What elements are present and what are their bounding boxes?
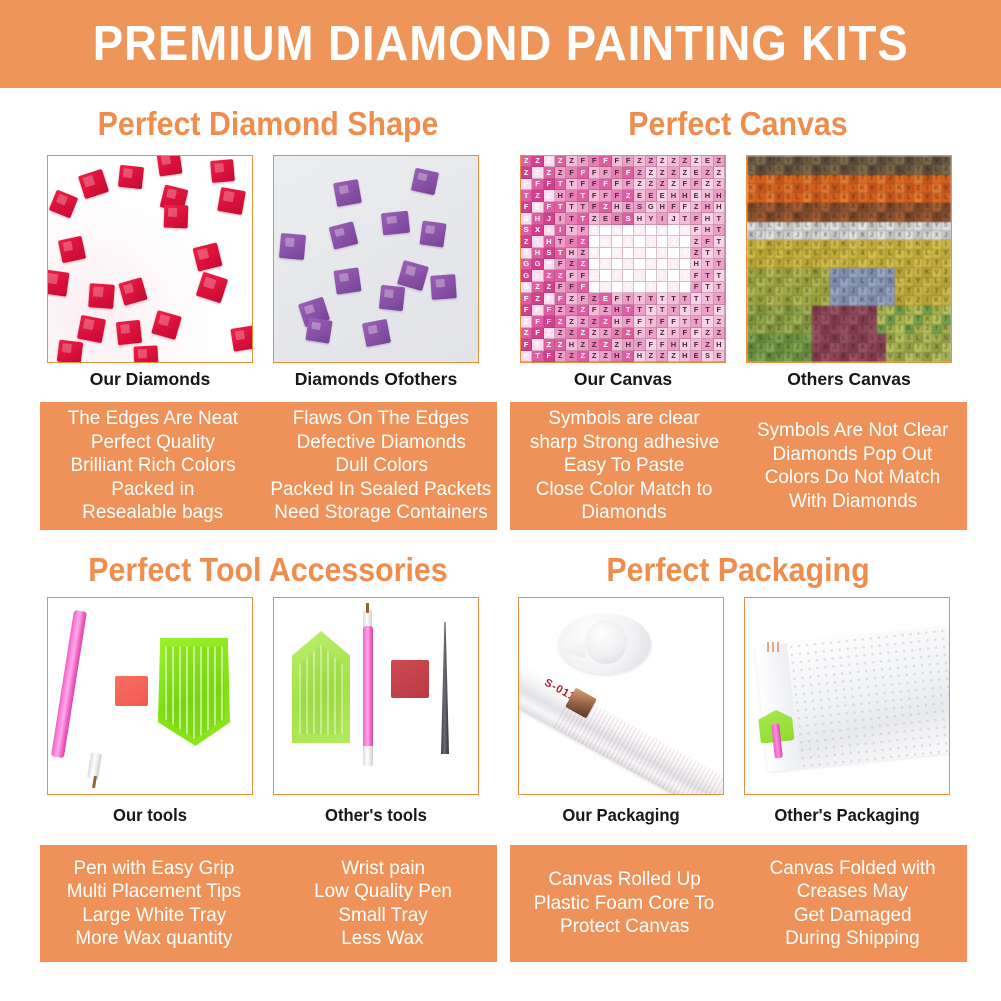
canvas-symbol-cell: 4: [923, 334, 932, 343]
canvas-symbol-cell: L: [756, 193, 765, 202]
canvas-symbol-cell: V: [784, 156, 793, 165]
canvas-symbol-cell: I: [868, 353, 877, 362]
canvas-symbol-cell: 2: [895, 353, 904, 362]
canvas-symbol-cell: H: [566, 339, 577, 350]
canvas-symbol-cell: J: [803, 259, 812, 268]
canvas-symbol-cell: Y: [784, 222, 793, 231]
canvas-symbol-cell: 7: [868, 203, 877, 212]
panel-line: Packed in: [111, 478, 194, 502]
caption-our-canvas: Our Canvas: [520, 369, 726, 390]
canvas-symbol-cell: S: [544, 248, 555, 259]
canvas-symbol-cell: Y: [905, 250, 914, 259]
canvas-symbol-cell: F: [589, 305, 600, 316]
panel-line: Resealable bags: [82, 501, 223, 525]
canvas-symbol-cell: 2: [858, 353, 867, 362]
canvas-symbol-cell: S: [849, 278, 858, 287]
canvas-symbol-cell: K: [914, 353, 923, 362]
canvas-symbol-cell: V: [886, 240, 895, 249]
canvas-symbol-cell: Z: [714, 167, 725, 178]
canvas-symbol-cell: 7: [756, 203, 765, 212]
canvas-symbol-cell: I: [544, 225, 555, 236]
canvas-symbol-cell: 2: [877, 184, 886, 193]
canvas-symbol-cell: E: [612, 225, 623, 236]
canvas-symbol-cell: 2: [803, 296, 812, 305]
canvas-symbol-cell: I: [821, 325, 830, 334]
canvas-symbol-cell: T: [668, 270, 679, 281]
canvas-symbol-cell: T: [714, 236, 725, 247]
canvas-symbol-cell: Y: [849, 193, 858, 202]
canvas-symbol-cell: K: [812, 156, 821, 165]
canvas-symbol-cell: Z: [646, 179, 657, 190]
canvas-symbol-cell: Z: [623, 328, 634, 339]
canvas-symbol-cell: T: [932, 259, 941, 268]
canvas-symbol-cell: T: [877, 203, 886, 212]
canvas-symbol-cell: 2: [766, 184, 775, 193]
canvas-symbol-cell: I: [886, 296, 895, 305]
canvas-symbol-cell: S: [830, 222, 839, 231]
canvas-symbol-cell: 4: [932, 250, 941, 259]
canvas-symbol-cell: I: [821, 212, 830, 221]
canvas-symbol-cell: L: [942, 193, 951, 202]
canvas-symbol-cell: 2: [895, 240, 904, 249]
canvas-symbol-cell: T: [668, 282, 679, 293]
canvas-symbol-cell: H: [634, 213, 645, 224]
canvas-symbol-cell: T: [634, 270, 645, 281]
panel-line: Low Quality Pen: [314, 880, 452, 904]
canvas-symbol-cell: 2: [756, 156, 765, 165]
canvas-symbol-cell: T: [702, 259, 713, 270]
canvas-symbol-cell: H: [702, 202, 713, 213]
canvas-symbol-cell: 2: [803, 184, 812, 193]
canvas-symbol-cell: H: [702, 213, 713, 224]
canvas-symbol-cell: T: [680, 282, 691, 293]
canvas-symbol-cell: Y: [821, 222, 830, 231]
photo-card-others-canvas: V2IKV2IKV2IKV2IKV2IKV2L4YSL4YSL4YSL4YSL4…: [746, 155, 952, 363]
canvas-symbol-cell: F: [578, 225, 589, 236]
canvas-symbol-cell: 7: [942, 315, 951, 324]
canvas-symbol-cell: Z: [600, 316, 611, 327]
canvas-symbol-cell: X: [849, 315, 858, 324]
canvas-symbol-cell: J: [544, 213, 555, 224]
canvas-symbol-cell: Z: [623, 351, 634, 362]
canvas-symbol-cell: T: [905, 287, 914, 296]
canvas-symbol-cell: K: [877, 353, 886, 362]
canvas-symbol-cell: 4: [840, 193, 849, 202]
canvas-symbol-cell: X: [840, 287, 849, 296]
canvas-symbol-cell: V: [923, 240, 932, 249]
canvas-symbol-cell: Z: [680, 167, 691, 178]
canvas-symbol-cell: F: [612, 259, 623, 270]
canvas-symbol-cell: H: [714, 190, 725, 201]
canvas-symbol-cell: K: [830, 212, 839, 221]
canvas-symbol-cell: T: [634, 293, 645, 304]
page-header: PREMIUM DIAMOND PAINTING KITS: [0, 0, 1001, 88]
canvas-symbol-cell: F: [680, 202, 691, 213]
section-heading-canvas: Perfect Canvas: [526, 105, 949, 143]
canvas-symbol-cell: J: [657, 236, 668, 247]
section-heading-diamond-shape: Perfect Diamond Shape: [56, 105, 479, 143]
canvas-symbol-cell: F: [521, 293, 532, 304]
canvas-symbol-cell: Y: [747, 334, 756, 343]
canvas-symbol-cell: 4: [923, 222, 932, 231]
canvas-symbol-cell: K: [932, 296, 941, 305]
panel-line: With Diamonds: [789, 490, 917, 514]
canvas-symbol-cell: I: [877, 268, 886, 277]
canvas-symbol-cell: V: [756, 296, 765, 305]
canvas-symbol-cell: J: [877, 259, 886, 268]
canvas-symbol-cell: 4: [766, 193, 775, 202]
canvas-symbol-cell: 4: [877, 306, 886, 315]
canvas-symbol-cell: K: [830, 325, 839, 334]
canvas-symbol-cell: G: [521, 270, 532, 281]
canvas-symbol-cell: L: [793, 193, 802, 202]
canvas-symbol-cell: 7: [905, 203, 914, 212]
panel-line: sharp Strong adhesive: [530, 431, 719, 455]
canvas-symbol-cell: X: [923, 315, 932, 324]
canvas-symbol-cell: 2: [932, 240, 941, 249]
canvas-symbol-cell: G: [521, 259, 532, 270]
canvas-symbol-cell: S: [775, 278, 784, 287]
canvas-symbol-cell: K: [756, 325, 765, 334]
canvas-symbol-cell: V: [886, 353, 895, 362]
canvas-symbol-cell: Y: [766, 278, 775, 287]
canvas-symbol-cell: Y: [840, 278, 849, 287]
canvas-symbol-cell: T: [868, 175, 877, 184]
canvas-symbol-cell: F: [657, 316, 668, 327]
canvas-symbol-cell: J: [756, 231, 765, 240]
canvas-symbol-cell: Z: [566, 259, 577, 270]
canvas-symbol-cell: H: [657, 202, 668, 213]
canvas-symbol-cell: F: [612, 282, 623, 293]
canvas-symbol-cell: F: [532, 328, 543, 339]
canvas-symbol-cell: T: [646, 282, 657, 293]
canvas-symbol-cell: Z: [702, 167, 713, 178]
canvas-symbol-cell: T: [895, 259, 904, 268]
canvas-symbol-cell: I: [803, 156, 812, 165]
canvas-symbol-cell: L: [895, 278, 904, 287]
canvas-symbol-cell: 4: [868, 278, 877, 287]
canvas-symbol-cell: V: [793, 296, 802, 305]
canvas-symbol-cell: 4: [793, 165, 802, 174]
canvas-symbol-cell: J: [923, 175, 932, 184]
canvas-symbol-cell: T: [942, 287, 951, 296]
canvas-symbol-cell: J: [942, 231, 951, 240]
canvas-symbol-cell: K: [793, 212, 802, 221]
canvas-symbol-cell: E: [657, 190, 668, 201]
canvas-symbol-cell: T: [623, 305, 634, 316]
canvas-symbol-cell: L: [858, 165, 867, 174]
canvas-symbol-cell: T: [668, 293, 679, 304]
canvas-symbol-cell: I: [766, 268, 775, 277]
canvas-symbol-cell: E: [600, 248, 611, 259]
canvas-symbol-cell: T: [680, 293, 691, 304]
canvas-symbol-cell: X: [766, 175, 775, 184]
canvas-symbol-cell: K: [756, 212, 765, 221]
canvas-symbol-cell: K: [775, 156, 784, 165]
canvas-symbol-cell: V: [905, 184, 914, 193]
canvas-symbol-cell: 2: [923, 212, 932, 221]
canvas-symbol-cell: T: [886, 343, 895, 352]
canvas-symbol-cell: J: [775, 287, 784, 296]
canvas-symbol-cell: Y: [877, 165, 886, 174]
canvas-symbol-cell: Y: [821, 334, 830, 343]
canvas-symbol-cell: L: [942, 306, 951, 315]
canvas-symbol-cell: X: [821, 343, 830, 352]
canvas-symbol-cell: H: [532, 213, 543, 224]
canvas-symbol-cell: T: [521, 190, 532, 201]
canvas-symbol-cell: T: [578, 202, 589, 213]
canvas-symbol-cell: X: [803, 287, 812, 296]
canvas-symbol-cell: F: [646, 339, 657, 350]
canvas-symbol-cell: S: [812, 165, 821, 174]
canvas-symbol-cell: K: [877, 240, 886, 249]
canvas-symbol-cell: 4: [886, 222, 895, 231]
photo-card-others-tools: [273, 597, 479, 795]
canvas-symbol-cell: V: [914, 212, 923, 221]
canvas-symbol-cell: T: [646, 236, 657, 247]
canvas-symbol-cell: V: [756, 184, 765, 193]
canvas-symbol-cell: T: [714, 293, 725, 304]
canvas-symbol-cell: 7: [747, 287, 756, 296]
canvas-symbol-cell: F: [589, 202, 600, 213]
canvas-symbol-cell: S: [812, 278, 821, 287]
canvas-symbol-cell: V: [942, 296, 951, 305]
canvas-symbol-cell: Z: [578, 248, 589, 259]
panel-line: Colors Do Not Match: [765, 466, 941, 490]
canvas-symbol-cell: F: [680, 328, 691, 339]
canvas-symbol-cell: X: [895, 343, 904, 352]
canvas-symbol-cell: J: [923, 287, 932, 296]
canvas-symbol-cell: Z: [578, 351, 589, 362]
panel-line: Less Wax: [342, 927, 424, 951]
canvas-symbol-cell: I: [858, 212, 867, 221]
canvas-symbol-cell: J: [858, 315, 867, 324]
canvas-symbol-cell: K: [840, 240, 849, 249]
canvas-symbol-cell: F: [544, 202, 555, 213]
canvas-symbol-cell: K: [849, 268, 858, 277]
canvas-symbol-cell: L: [784, 278, 793, 287]
canvas-symbol-cell: I: [923, 296, 932, 305]
canvas-symbol-cell: V: [784, 268, 793, 277]
canvas-symbol-cell: 2: [784, 353, 793, 362]
canvas-symbol-cell: 4: [793, 278, 802, 287]
canvas-symbol-cell: T: [532, 351, 543, 362]
canvas-symbol-cell: Z: [555, 167, 566, 178]
canvas-symbol-cell: Z: [589, 351, 600, 362]
canvas-symbol-cell: T: [793, 175, 802, 184]
canvas-symbol-cell: T: [702, 316, 713, 327]
canvas-symbol-cell: F: [600, 190, 611, 201]
canvas-symbol-cell: K: [849, 156, 858, 165]
canvas-symbol-cell: L: [840, 222, 849, 231]
canvas-symbol-cell: X: [858, 231, 867, 240]
canvas-symbol-cell: 2: [747, 240, 756, 249]
canvas-symbol-cell: I: [803, 268, 812, 277]
canvas-symbol-cell: X: [532, 225, 543, 236]
canvas-symbol-cell: 4: [905, 278, 914, 287]
canvas-symbol-cell: Y: [849, 306, 858, 315]
canvas-symbol-cell: H: [612, 202, 623, 213]
canvas-symbol-cell: Z: [578, 328, 589, 339]
canvas-symbol-cell: L: [932, 278, 941, 287]
canvas-symbol-cell: 4: [942, 278, 951, 287]
canvas-symbol-cell: Z: [668, 156, 679, 167]
canvas-symbol-cell: X: [803, 175, 812, 184]
canvas-symbol-cell: H: [544, 236, 555, 247]
canvas-symbol-cell: J: [932, 315, 941, 324]
canvas-symbol-cell: X: [793, 259, 802, 268]
canvas-symbol-cell: Y: [942, 250, 951, 259]
canvas-symbol-cell: H: [612, 316, 623, 327]
canvas-symbol-cell: 4: [877, 193, 886, 202]
canvas-symbol-cell: I: [914, 156, 923, 165]
canvas-symbol-cell: 7: [942, 203, 951, 212]
canvas-symbol-cell: E: [600, 236, 611, 247]
canvas-symbol-cell: V: [830, 296, 839, 305]
canvas-symbol-cell: L: [905, 193, 914, 202]
canvas-symbol-cell: 4: [803, 193, 812, 202]
canvas-symbol-cell: S: [895, 193, 904, 202]
canvas-symbol-cell: F: [578, 282, 589, 293]
canvas-symbol-cell: T: [714, 259, 725, 270]
canvas-symbol-cell: Z: [691, 156, 702, 167]
canvas-symbol-cell: Z: [612, 248, 623, 259]
canvas-symbol-cell: J: [840, 259, 849, 268]
canvas-symbol-cell: J: [942, 343, 951, 352]
canvas-symbol-cell: L: [803, 222, 812, 231]
canvas-symbol-cell: S: [905, 334, 914, 343]
canvas-symbol-cell: F: [623, 156, 634, 167]
canvas-symbol-cell: 2: [812, 325, 821, 334]
canvas-symbol-cell: J: [812, 175, 821, 184]
canvas-symbol-cell: T: [657, 282, 668, 293]
canvas-symbol-cell: L: [932, 165, 941, 174]
canvas-symbol-cell: Z: [532, 190, 543, 201]
canvas-symbol-cell: 2: [840, 184, 849, 193]
panel-line: Diamonds: [582, 501, 667, 525]
canvas-symbol-cell: T: [646, 293, 657, 304]
canvas-symbol-cell: T: [849, 231, 858, 240]
canvas-symbol-cell: H: [714, 339, 725, 350]
canvas-symbol-cell: F: [532, 179, 543, 190]
canvas-symbol-cell: Y: [858, 222, 867, 231]
canvas-symbol-cell: Z: [680, 156, 691, 167]
canvas-symbol-cell: 2: [775, 212, 784, 221]
canvas-symbol-cell: J: [784, 203, 793, 212]
canvas-symbol-cell: Z: [634, 167, 645, 178]
canvas-symbol-cell: S: [521, 225, 532, 236]
canvas-symbol-cell: T: [680, 270, 691, 281]
canvas-symbol-cell: K: [803, 240, 812, 249]
canvas-symbol-cell: T: [942, 175, 951, 184]
canvas-symbol-cell: F: [555, 293, 566, 304]
canvas-symbol-cell: T: [634, 259, 645, 270]
canvas-symbol-cell: S: [830, 334, 839, 343]
canvas-symbol-cell: I: [775, 296, 784, 305]
canvas-symbol-cell: T: [566, 202, 577, 213]
canvas-symbol-cell: Y: [886, 306, 895, 315]
canvas-symbol-cell: V: [821, 156, 830, 165]
canvas-symbol-cell: E: [714, 351, 725, 362]
canvas-symbol-cell: F: [555, 282, 566, 293]
infographic-page: PREMIUM DIAMOND PAINTING KITS Perfect Di…: [0, 0, 1001, 1001]
caption-others-tools: Other's tools: [278, 805, 474, 826]
canvas-symbol-cell: Z: [646, 167, 657, 178]
canvas-symbol-cell: S: [877, 250, 886, 259]
canvas-symbol-cell: V: [803, 212, 812, 221]
canvas-symbol-cell: L: [821, 278, 830, 287]
canvas-symbol-cell: 2: [849, 212, 858, 221]
canvas-symbol-cell: Z: [589, 270, 600, 281]
canvas-symbol-cell: F: [532, 305, 543, 316]
canvas-symbol-cell: S: [886, 278, 895, 287]
canvas-symbol-cell: T: [623, 270, 634, 281]
canvas-symbol-cell: Y: [914, 165, 923, 174]
canvas-symbol-cell: T: [566, 225, 577, 236]
canvas-symbol-cell: K: [923, 156, 932, 165]
canvas-symbol-cell: T: [555, 236, 566, 247]
canvas-symbol-cell: 2: [821, 353, 830, 362]
canvas-symbol-cell: L: [830, 193, 839, 202]
canvas-symbol-cell: 4: [849, 334, 858, 343]
canvas-symbol-cell: T: [657, 293, 668, 304]
canvas-symbol-cell: S: [702, 351, 713, 362]
canvas-symbol-cell: K: [905, 325, 914, 334]
canvas-symbol-cell: E: [600, 293, 611, 304]
canvas-symbol-cell: T: [680, 259, 691, 270]
canvas-symbol-cell: Z: [589, 236, 600, 247]
canvas-symbol-cell: Z: [589, 328, 600, 339]
canvas-symbol-cell: T: [803, 203, 812, 212]
canvas-symbol-cell: T: [756, 287, 765, 296]
canvas-symbol-cell: 2: [821, 240, 830, 249]
canvas-symbol-cell: F: [532, 316, 543, 327]
canvas-symbol-cell: X: [840, 175, 849, 184]
canvas-symbol-cell: 7: [766, 231, 775, 240]
canvas-symbol-cell: F: [544, 305, 555, 316]
canvas-symbol-cell: Y: [895, 222, 904, 231]
canvas-symbol-cell: Z: [578, 236, 589, 247]
canvas-symbol-cell: T: [680, 225, 691, 236]
canvas-symbol-cell: J: [646, 225, 657, 236]
canvas-symbol-cell: Z: [691, 248, 702, 259]
canvas-symbol-cell: I: [812, 296, 821, 305]
photo-card-our-canvas: ZZZZZFFFFFZZZZZZEZZZZZFFFFFFZZZZZEZZFFFT…: [520, 155, 726, 363]
canvas-symbol-cell: F: [578, 270, 589, 281]
canvas-symbol-cell: Z: [521, 316, 532, 327]
canvas-symbol-cell: F: [612, 190, 623, 201]
canvas-symbol-cell: Z: [555, 328, 566, 339]
canvas-symbol-cell: Y: [803, 278, 812, 287]
canvas-symbol-cell: H: [702, 190, 713, 201]
canvas-symbol-cell: K: [914, 240, 923, 249]
canvas-symbol-cell: F: [521, 339, 532, 350]
canvas-symbol-cell: J: [775, 175, 784, 184]
canvas-symbol-cell: X: [784, 231, 793, 240]
canvas-symbol-cell: 7: [877, 343, 886, 352]
canvas-symbol-cell: F: [668, 328, 679, 339]
caption-others-diamonds: Diamonds Ofothers: [273, 369, 479, 390]
canvas-symbol-cell: F: [691, 328, 702, 339]
canvas-symbol-cell: T: [555, 202, 566, 213]
canvas-symbol-cell: V: [849, 240, 858, 249]
canvas-symbol-cell: Z: [532, 293, 543, 304]
canvas-symbol-cell: 4: [821, 250, 830, 259]
canvas-symbol-cell: T: [803, 315, 812, 324]
canvas-symbol-cell: T: [646, 270, 657, 281]
canvas-symbol-cell: 4: [849, 222, 858, 231]
canvas-symbol-cell: I: [747, 212, 756, 221]
